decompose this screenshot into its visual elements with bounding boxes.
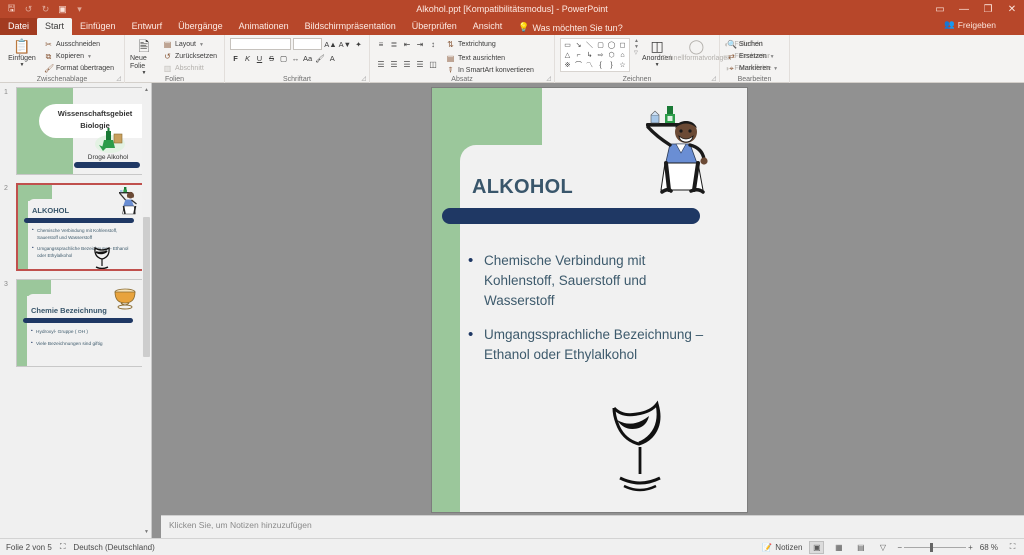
reset-icon: ↺ <box>163 52 172 61</box>
title-bar: 🖫 ↺ ↻ ▣ ▾ Alkohol.ppt [Kompatibilitätsmo… <box>0 0 1024 18</box>
shape-hexagon-icon[interactable]: ⬡ <box>606 50 617 60</box>
tab-start[interactable]: Start <box>37 18 72 35</box>
gallery-more-icon[interactable]: ▽ <box>634 50 639 56</box>
slides-group-label: Folien <box>125 76 224 83</box>
quick-styles-button: ◯ Schnellformatvorlagen <box>675 38 717 63</box>
language-indicator[interactable]: Deutsch (Deutschland) <box>73 543 154 552</box>
shape-pentagon-icon[interactable]: ⌂ <box>617 50 628 60</box>
character-spacing-icon[interactable]: ↔ <box>290 52 301 64</box>
tab-entwurf[interactable]: Entwurf <box>124 18 171 35</box>
shape-arc-icon[interactable]: ⌒ <box>573 60 584 70</box>
wine-glass-clipart <box>90 245 114 271</box>
thumb-caption: Droge Alkohol <box>73 154 143 161</box>
arrange-icon: ◫ <box>651 39 664 54</box>
increase-indent-icon[interactable]: ⇥ <box>414 38 426 50</box>
select-label: Markieren <box>739 65 770 72</box>
format-painter-button[interactable]: 🖌 Format übertragen <box>42 63 116 74</box>
shape-square-icon[interactable]: ▢ <box>595 40 606 50</box>
text-shadow-icon[interactable]: ▢ <box>278 52 289 64</box>
shape-right-brace-icon[interactable]: } <box>606 60 617 70</box>
slide-title[interactable]: ALKOHOL <box>472 176 573 199</box>
minimize-button[interactable]: — <box>952 0 976 18</box>
tab-animationen[interactable]: Animationen <box>231 18 297 35</box>
convert-to-smartart-label: In SmartArt konvertieren <box>458 67 534 74</box>
window-controls[interactable]: ▭ — ❐ ✕ <box>928 0 1024 18</box>
font-color-icon[interactable]: A <box>327 52 338 64</box>
thumb-bullet: • Umgangssprachliche Bezeichnung – Ethan… <box>32 246 130 260</box>
paragraph-dialog-launcher-icon[interactable]: ◿ <box>546 75 551 82</box>
shape-arrow-icon[interactable]: ↘ <box>573 40 584 50</box>
waiter-clipart[interactable] <box>634 106 714 196</box>
zoom-slider[interactable]: − + <box>897 543 972 552</box>
slide-thumbnail-3[interactable]: Chemie Bezeichnung • Hydroxyl- Gruppe ( … <box>16 279 146 367</box>
slide-thumbnail-2[interactable]: ALKOHOL • Chemische Verbindung mit Kohle… <box>16 183 146 271</box>
thumb-bullet: • Hydroxyl- Gruppe ( OH ) <box>31 329 135 337</box>
font-dialog-launcher-icon[interactable]: ◿ <box>361 75 366 82</box>
clear-formatting-icon[interactable]: ✦ <box>353 38 364 50</box>
layout-label: Layout <box>175 41 196 48</box>
text-highlight-icon[interactable]: 🖌 <box>314 52 326 64</box>
notes-icon: 📝 <box>762 543 772 552</box>
shape-circle-icon[interactable]: ◯ <box>606 40 617 50</box>
align-text-icon: ▤ <box>446 54 455 63</box>
shape-triangle-icon[interactable]: △ <box>562 50 573 60</box>
ribbon-display-options-icon[interactable]: ▭ <box>928 0 952 18</box>
clipboard-dialog-launcher-icon[interactable]: ◿ <box>116 75 121 82</box>
bold-button[interactable]: F <box>230 52 241 64</box>
shape-roundrect-icon[interactable]: ◻ <box>617 40 628 50</box>
search-icon: 🔍 <box>727 40 736 49</box>
chevron-down-icon[interactable]: ▼ <box>199 42 204 48</box>
brandy-glass-clipart <box>111 283 139 311</box>
shape-line-icon[interactable]: ＼ <box>584 40 595 50</box>
slide-bullet: Chemische Verbindung mit Kohlenstoff, Sa… <box>468 251 718 311</box>
scrollbar-thumb[interactable] <box>143 217 150 357</box>
thumb-bullet: • Viele Bezeichnungen sind giftig <box>31 341 135 349</box>
replace-label: Ersetzen <box>739 53 767 60</box>
editing-group-label: Bearbeiten <box>720 76 789 83</box>
shape-curve-icon[interactable]: 〽 <box>584 60 595 70</box>
workspace: 1 Wissenschaftsgebiet Biologie Droge Alk… <box>0 83 1024 538</box>
text-direction-label: Textrichtung <box>458 41 496 48</box>
thumbnail-row[interactable]: 2 ALKOHOL • Chemische Verbindung mit Koh… <box>0 179 151 275</box>
italic-button[interactable]: K <box>242 52 253 64</box>
lightbulb-icon: 💡 <box>518 22 529 33</box>
restore-button[interactable]: ❐ <box>976 0 1000 18</box>
shrink-font-button[interactable]: A▼ <box>339 38 351 50</box>
bullets-icon[interactable]: ≡ <box>375 38 387 50</box>
ribbon: 📋 Einfügen ▼ ✂ Ausschneiden ⧉ Kopieren ▼… <box>0 35 1024 83</box>
align-left-icon[interactable]: ☰ <box>375 58 387 70</box>
thumb-title: ALKOHOL <box>32 206 69 215</box>
reset-button[interactable]: ↺ Zurücksetzen <box>161 51 219 62</box>
drawing-group-label: Zeichnen <box>555 76 719 83</box>
chevron-down-icon[interactable]: ▼ <box>770 54 775 60</box>
shapes-gallery[interactable]: ▭ ↘ ＼ ▢ ◯ ◻ △ ⌐ ↳ ⇨ ⬡ ⌂ ※ ⌒ 〽 { } ☆ <box>560 38 630 72</box>
align-text-button[interactable]: ▤ Text ausrichten <box>444 53 536 64</box>
text-direction-icon: ⇅ <box>446 40 455 49</box>
zoom-slider-handle[interactable] <box>930 543 933 552</box>
status-bar: Folie 2 von 5 ⛶ Deutsch (Deutschland) 📝 … <box>0 538 1024 555</box>
tab-uebergaenge[interactable]: Übergänge <box>170 18 231 35</box>
thumb-bullet-text: Chemische Verbindung mit Kohlenstoff, Sa… <box>37 228 117 240</box>
drawing-dialog-launcher-icon[interactable]: ◿ <box>711 75 716 82</box>
align-center-icon[interactable]: ☰ <box>388 58 400 70</box>
scroll-down-icon[interactable]: ▼ <box>142 525 151 538</box>
zoom-level-label[interactable]: 68 % <box>980 543 998 552</box>
font-size-input[interactable] <box>293 38 322 50</box>
shape-corner-icon[interactable]: ⌐ <box>573 50 584 60</box>
cut-label: Ausschneiden <box>56 41 100 48</box>
chevron-down-icon[interactable]: ▼ <box>655 63 660 69</box>
underline-button[interactable]: U <box>254 52 265 64</box>
new-slide-label: Neue Folie <box>130 55 158 71</box>
tab-ueberpruefen[interactable]: Überprüfen <box>404 18 465 35</box>
smartart-icon: ⍒ <box>446 66 455 76</box>
slide-body-text[interactable]: Chemische Verbindung mit Kohlenstoff, Sa… <box>468 251 718 379</box>
tab-einfuegen[interactable]: Einfügen <box>72 18 124 35</box>
save-icon[interactable]: 🖫 <box>4 2 19 17</box>
thumb-accent-bar <box>23 318 133 323</box>
customize-qat-icon[interactable]: ▾ <box>72 2 87 17</box>
redo-icon[interactable]: ↻ <box>38 2 53 17</box>
thumbnail-row[interactable]: 3 Chemie Bezeichnung • Hydroxyl- Gruppe … <box>0 275 151 371</box>
fit-to-window-button[interactable]: ⛶ <box>1005 541 1020 554</box>
window-title: Alkohol.ppt [Kompatibilitätsmodus] - Pow… <box>0 4 1024 14</box>
slide-thumbnail-pane[interactable]: 1 Wissenschaftsgebiet Biologie Droge Alk… <box>0 83 152 538</box>
paste-button[interactable]: 📋 Einfügen ▼ <box>5 38 39 69</box>
thumb-bullet-text: Viele Bezeichnungen sind giftig <box>36 342 103 347</box>
clipboard-group-label: Zwischenablage <box>0 76 124 83</box>
section-label: Abschnitt <box>175 65 204 72</box>
zoom-out-button[interactable]: − <box>897 543 902 552</box>
thumbnail-scrollbar[interactable]: ▲ ▼ <box>142 83 151 538</box>
ribbon-group-clipboard: 📋 Einfügen ▼ ✂ Ausschneiden ⧉ Kopieren ▼… <box>0 35 125 83</box>
quick-styles-icon: ◯ <box>688 39 704 54</box>
shape-freeform-icon[interactable]: ※ <box>562 60 573 70</box>
copy-icon: ⧉ <box>44 52 53 62</box>
zoom-slider-track[interactable] <box>904 547 966 548</box>
accessibility-icon[interactable]: ⛶ <box>60 542 66 552</box>
share-button[interactable]: 👥 Freigeben <box>944 19 996 30</box>
strikethrough-button[interactable]: S <box>266 52 277 64</box>
zoom-in-button[interactable]: + <box>968 543 973 552</box>
reading-view-button[interactable]: ▤ <box>853 541 868 554</box>
text-direction-button[interactable]: ⇅ Textrichtung <box>444 39 498 50</box>
shape-left-brace-icon[interactable]: { <box>595 60 606 70</box>
scissors-icon: ✂ <box>44 40 53 49</box>
shapes-gallery-scroll[interactable]: ▲ ▼ ▽ <box>634 38 639 56</box>
slide-editing-area[interactable]: ALKOHOL <box>161 83 1024 515</box>
paintbrush-icon: 🖌 <box>44 64 53 73</box>
scrollbar-track[interactable] <box>142 97 151 524</box>
thumb-accent-bar <box>24 218 134 223</box>
shape-block-arrow-icon[interactable]: ⇨ <box>595 50 606 60</box>
tell-me-box[interactable]: 💡 Was möchten Sie tun? <box>510 20 630 35</box>
ribbon-group-font: A▲ A▼ ✦ F K U S ▢ ↔ Aa 🖌 A Schriftart ◿ <box>225 35 370 83</box>
ribbon-group-slides: 🖹 Neue Folie ▼ ▤ Layout ▼ ↺ Zurücksetzen… <box>125 35 225 83</box>
tab-ansicht[interactable]: Ansicht <box>465 18 511 35</box>
arrange-button[interactable]: ◫ Anordnen ▼ <box>642 38 672 69</box>
new-slide-button[interactable]: 🖹 Neue Folie ▼ <box>130 38 158 77</box>
start-slideshow-icon[interactable]: ▣ <box>55 2 70 17</box>
tell-me-label: Was möchten Sie tun? <box>532 23 622 33</box>
layout-icon: ▤ <box>163 40 172 49</box>
slideshow-view-button[interactable]: ▽ <box>875 541 890 554</box>
copy-label: Kopieren <box>56 53 84 60</box>
close-button[interactable]: ✕ <box>1000 0 1024 18</box>
thumb-bullet-text: Hydroxyl- Gruppe ( OH ) <box>36 330 88 335</box>
chevron-down-icon[interactable]: ▼ <box>87 54 92 60</box>
columns-icon[interactable]: ◫ <box>427 58 439 70</box>
bottle-image <box>93 128 127 154</box>
thumb-accent-bar <box>74 162 140 168</box>
thumb-title: Chemie Bezeichnung <box>31 306 107 315</box>
notes-button-label: Notizen <box>775 543 802 552</box>
select-icon: ⌖ <box>727 64 736 74</box>
share-label: Freigeben <box>958 20 996 30</box>
convert-to-smartart-button[interactable]: ⍒ In SmartArt konvertieren <box>444 65 536 76</box>
grow-font-button[interactable]: A▲ <box>324 38 336 50</box>
paragraph-group-label: Absatz <box>370 76 554 83</box>
normal-view-button[interactable]: ▣ <box>809 541 824 554</box>
ribbon-group-editing: 🔍 Suchen ⇄ Ersetzen ▼ ⌖ Markieren ▼ Bear… <box>720 35 790 83</box>
numbering-icon[interactable]: ≣ <box>388 38 400 50</box>
quick-access-toolbar[interactable]: 🖫 ↺ ↻ ▣ ▾ <box>0 2 87 17</box>
align-text-label: Text ausrichten <box>458 55 505 62</box>
undo-icon[interactable]: ↺ <box>21 2 36 17</box>
font-name-input[interactable] <box>230 38 291 50</box>
replace-icon: ⇄ <box>727 52 736 61</box>
notes-button[interactable]: 📝 Notizen <box>762 543 802 552</box>
tab-bildschirmpraesentation[interactable]: Bildschirmpräsentation <box>297 18 404 35</box>
section-icon: ▥ <box>163 64 172 73</box>
clipboard-icon: 📋 <box>13 39 30 54</box>
slide-thumbnail-1[interactable]: Wissenschaftsgebiet Biologie Droge Alkoh… <box>16 87 146 175</box>
find-label: Suchen <box>739 41 763 48</box>
slide-counter[interactable]: Folie 2 von 5 <box>6 543 52 552</box>
thumb-bullet: • Chemische Verbindung mit Kohlenstoff, … <box>32 228 130 242</box>
thumb-bullet-text: Umgangssprachliche Bezeichnung – Ethanol… <box>37 246 128 258</box>
thumb-title-line1: Wissenschaftsgebiet <box>47 108 143 120</box>
share-icon: 👥 <box>944 19 955 30</box>
chevron-down-icon[interactable]: ▼ <box>20 63 25 69</box>
ribbon-group-drawing: ▭ ↘ ＼ ▢ ◯ ◻ △ ⌐ ↳ ⇨ ⬡ ⌂ ※ ⌒ 〽 { } ☆ ▲ <box>555 35 720 83</box>
ribbon-group-paragraph: ≡ ≣ ⇤ ⇥ ↕ ⇅ Textrichtung ☰ ☰ ☰ ☰ ◫ <box>370 35 555 83</box>
replace-button[interactable]: ⇄ Ersetzen ▼ <box>725 51 780 62</box>
shape-elbow-icon[interactable]: ↳ <box>584 50 595 60</box>
section-button: ▥ Abschnitt <box>161 63 219 74</box>
find-button[interactable]: 🔍 Suchen <box>725 39 780 50</box>
reset-label: Zurücksetzen <box>175 53 217 60</box>
thumbnail-row[interactable]: 1 Wissenschaftsgebiet Biologie Droge Alk… <box>0 83 151 179</box>
justify-icon[interactable]: ☰ <box>414 58 426 70</box>
wine-glass-clipart[interactable] <box>604 398 682 496</box>
chevron-down-icon[interactable]: ▼ <box>773 66 778 72</box>
thumbnail-number: 1 <box>4 89 8 96</box>
shape-rectangle-icon[interactable]: ▭ <box>562 40 573 50</box>
font-group-label: Schriftart <box>225 76 369 83</box>
slide-accent-bar <box>442 208 700 224</box>
select-button[interactable]: ⌖ Markieren ▼ <box>725 63 780 74</box>
slide-bullet: Umgangssprachliche Bezeichnung – Ethanol… <box>468 325 718 365</box>
copy-button[interactable]: ⧉ Kopieren ▼ <box>42 51 116 62</box>
current-slide[interactable]: ALKOHOL <box>432 88 747 512</box>
thumbnail-number: 2 <box>4 185 8 192</box>
waiter-clipart <box>114 187 140 215</box>
decrease-indent-icon[interactable]: ⇤ <box>401 38 413 50</box>
layout-button[interactable]: ▤ Layout ▼ <box>161 39 219 50</box>
slide-sorter-view-button[interactable]: ▦ <box>831 541 846 554</box>
cut-button[interactable]: ✂ Ausschneiden <box>42 39 116 50</box>
new-slide-icon: 🖹 <box>138 39 149 54</box>
notes-pane[interactable]: Klicken Sie, um Notizen hinzuzufügen <box>161 515 1024 538</box>
change-case-icon[interactable]: Aa <box>302 52 313 64</box>
shape-star-icon[interactable]: ☆ <box>617 60 628 70</box>
format-painter-label: Format übertragen <box>56 65 114 72</box>
scroll-up-icon[interactable]: ▲ <box>142 83 151 96</box>
align-right-icon[interactable]: ☰ <box>401 58 413 70</box>
notes-placeholder: Klicken Sie, um Notizen hinzuzufügen <box>169 520 312 530</box>
tab-datei[interactable]: Datei <box>0 18 37 35</box>
ribbon-tab-bar: Datei Start Einfügen Entwurf Übergänge A… <box>0 18 1024 35</box>
line-spacing-icon[interactable]: ↕ <box>427 38 439 50</box>
thumbnail-number: 3 <box>4 281 8 288</box>
